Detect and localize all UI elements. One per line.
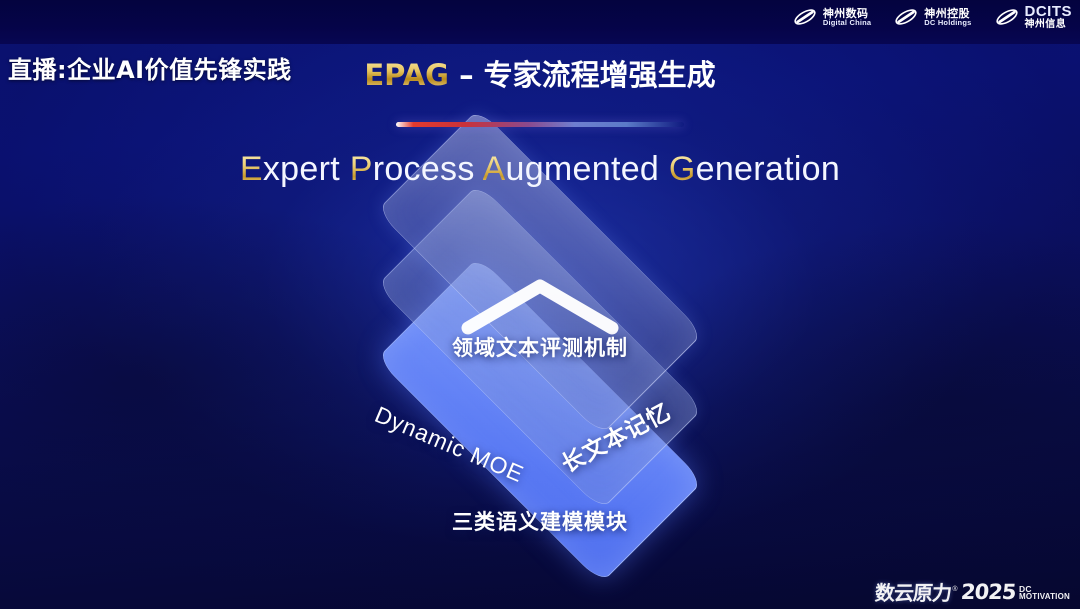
title-divider — [396, 122, 684, 127]
partner-name-en: DC Holdings — [924, 19, 971, 27]
diagram-label-bottom: 三类语义建模模块 — [0, 506, 1080, 536]
slide-canvas: 数云原力 ® 2025 DC MOTIVATION 直播:企业AI价值先锋实践 … — [0, 0, 1080, 609]
subtitle-word-process: rocess — [373, 150, 483, 188]
subtitle-word-generation: eneration — [696, 150, 840, 188]
brand-watermark-bottom-right: 数云原力 ® 2025 DC MOTIVATION — [875, 582, 1070, 603]
watermark-dc-block: DC MOTIVATION — [1019, 585, 1070, 602]
partner-logo-dc-holdings: 神州控股 DC Holdings — [893, 4, 971, 30]
title-chinese: 专家流程增强生成 — [484, 58, 716, 92]
partner-text-dc-holdings: 神州控股 DC Holdings — [924, 8, 971, 28]
registered-mark-icon: ® — [952, 586, 957, 593]
page-subtitle: Expert Process Augmented Generation — [0, 150, 1080, 189]
chevron-up-icon — [460, 276, 620, 336]
subtitle-word-augmented: ugmented — [506, 150, 669, 188]
swirl-logo-icon — [893, 4, 919, 30]
swirl-logo-icon — [994, 4, 1020, 30]
partner-name-en: Digital China — [823, 19, 871, 27]
partner-text-digital-china: 神州数码 Digital China — [823, 8, 871, 28]
partner-logo-digital-china: 神州数码 Digital China — [792, 4, 871, 30]
diagram-label-top: 领域文本评测机制 — [0, 332, 1080, 362]
swirl-logo-icon — [792, 4, 818, 30]
partner-logo-group: 神州数码 Digital China 神州控股 DC Holdings DCIT… — [792, 4, 1072, 31]
live-stream-title: 直播:企业AI价值先锋实践 — [8, 50, 292, 85]
title-dash: – — [449, 58, 484, 92]
partner-logo-dcits: DCITS 神州信息 — [994, 4, 1073, 31]
watermark-chinese: 数云原力 — [875, 583, 952, 603]
subtitle-cap-e: E — [240, 150, 263, 188]
partner-name-en: DCITS — [1025, 4, 1073, 20]
watermark-motivation: MOTIVATION — [1019, 593, 1070, 601]
subtitle-cap-p: P — [350, 150, 373, 188]
watermark-year: 2025 — [960, 582, 1016, 603]
partner-name-cn: 神州信息 — [1025, 20, 1073, 31]
subtitle-cap-g: G — [669, 150, 696, 188]
title-acronym: EPAG — [364, 58, 449, 92]
subtitle-cap-a: A — [483, 150, 506, 188]
subtitle-word-expert: xpert — [263, 150, 350, 188]
partner-text-dcits: DCITS 神州信息 — [1025, 4, 1073, 31]
